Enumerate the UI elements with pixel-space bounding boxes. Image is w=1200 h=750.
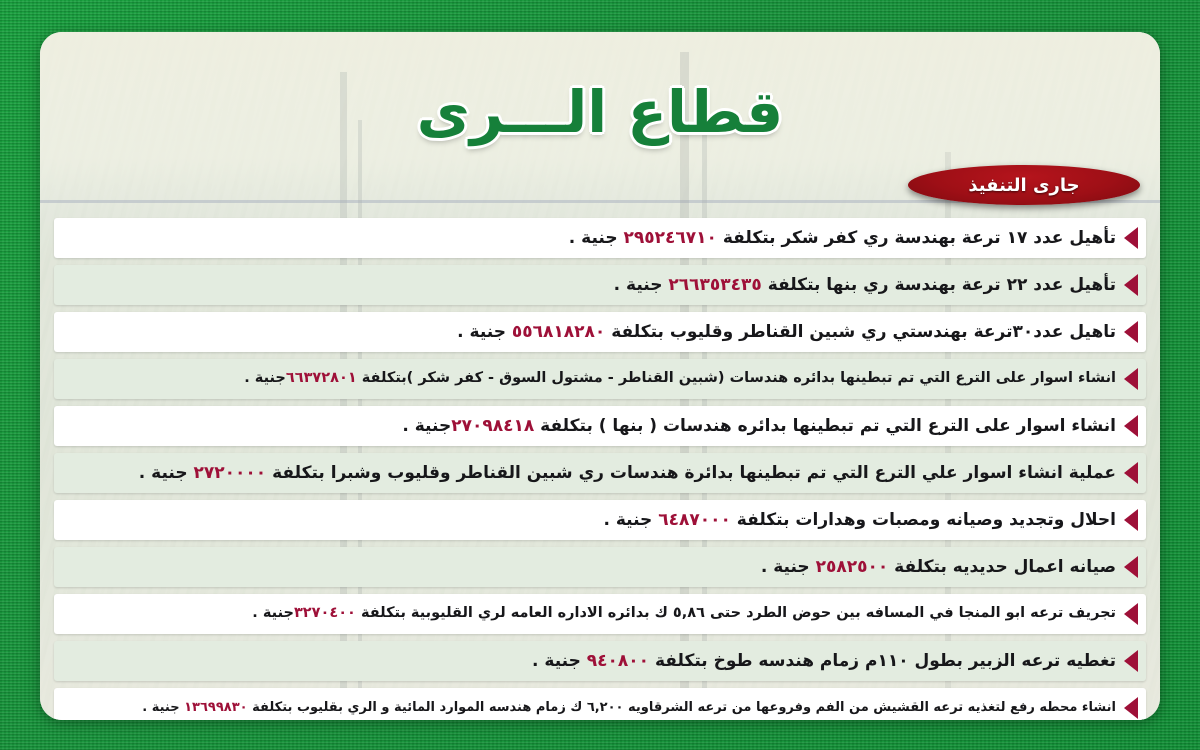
page-title-container: قطاع الـــرى [40, 78, 1160, 146]
list-item-text: احلال وتجديد وصيانه ومصبات وهدارات بتكلف… [68, 509, 1116, 532]
cost-value: ٥٥٦٨١٨٢٨٠ [512, 322, 605, 342]
list-item-text: تجريف ترعه ابو المنجا في المسافه بين حوض… [68, 604, 1116, 624]
status-badge-label: جارى التنفيذ [968, 175, 1079, 196]
list-item[interactable]: تأهيل عدد ٢٢ ترعة بهندسة ري بنها بتكلفة … [54, 265, 1146, 305]
arrow-bullet-icon [1124, 697, 1138, 719]
list-item-text: انشاء محطه رفع لتغذيه ترعه القشيش من الف… [68, 699, 1116, 717]
list-item-text: انشاء اسوار على الترع التي تم تبطينها بد… [68, 369, 1116, 389]
list-item[interactable]: تغطيه ترعه الزبير بطول ١١٠م زمام هندسه ط… [54, 641, 1146, 681]
arrow-bullet-icon [1124, 509, 1138, 531]
arrow-bullet-icon [1124, 650, 1138, 672]
list-item[interactable]: انشاء محطه رفع لتغذيه ترعه القشيش من الف… [54, 688, 1146, 720]
list-item[interactable]: انشاء اسوار على الترع التي تم تبطينها بد… [54, 359, 1146, 399]
list-item[interactable]: صيانه اعمال حديديه بتكلفة ٢٥٨٢٥٠٠ جنية . [54, 547, 1146, 587]
list-item-text: تاهيل عدد٣٠ترعة بهندستي ري شبين القناطر … [68, 321, 1116, 344]
list-item[interactable]: تاهيل عدد٣٠ترعة بهندستي ري شبين القناطر … [54, 312, 1146, 352]
arrow-bullet-icon [1124, 321, 1138, 343]
list-item[interactable]: تجريف ترعه ابو المنجا في المسافه بين حوض… [54, 594, 1146, 634]
status-badge: جارى التنفيذ [908, 165, 1140, 205]
cost-value: ٢٥٨٢٥٠٠ [816, 557, 889, 577]
cost-value: ٦٦٣٧٢٨٠١ [286, 370, 357, 386]
cost-value: ٣٢٧٠٤٠٠ [294, 605, 356, 621]
list-item[interactable]: انشاء اسوار على الترع التي تم تبطينها بد… [54, 406, 1146, 446]
list-item-text: صيانه اعمال حديديه بتكلفة ٢٥٨٢٥٠٠ جنية . [68, 556, 1116, 579]
list-item-text: عملية انشاء اسوار علي الترع التي تم تبطي… [68, 462, 1116, 485]
arrow-bullet-icon [1124, 415, 1138, 437]
cost-value: ٩٤٠٨٠٠ [587, 651, 649, 671]
list-item[interactable]: تأهيل عدد ١٧ ترعة بهندسة ري كفر شكر بتكل… [54, 218, 1146, 258]
list-item-text: تأهيل عدد ٢٢ ترعة بهندسة ري بنها بتكلفة … [68, 274, 1116, 297]
cost-value: ٢٦٦٣٥٣٤٣٥ [668, 275, 761, 295]
arrow-bullet-icon [1124, 368, 1138, 390]
cost-value: ٢٩٥٢٤٦٧١٠ [624, 228, 717, 248]
arrow-bullet-icon [1124, 462, 1138, 484]
arrow-bullet-icon [1124, 274, 1138, 296]
arrow-bullet-icon [1124, 227, 1138, 249]
arrow-bullet-icon [1124, 556, 1138, 578]
list-item[interactable]: احلال وتجديد وصيانه ومصبات وهدارات بتكلف… [54, 500, 1146, 540]
cost-value: ٢٧٢٠٠٠٠ [194, 463, 267, 483]
cost-value: ٢٧٠٩٨٤١٨ [451, 416, 534, 436]
cost-value: ١٣٦٩٩٨٣٠ [184, 700, 247, 715]
page-title: قطاع الـــرى [417, 78, 783, 146]
list-item-text: انشاء اسوار على الترع التي تم تبطينها بد… [68, 415, 1116, 438]
arrow-bullet-icon [1124, 603, 1138, 625]
list-item-text: تغطيه ترعه الزبير بطول ١١٠م زمام هندسه ط… [68, 650, 1116, 673]
list-item-text: تأهيل عدد ١٧ ترعة بهندسة ري كفر شكر بتكل… [68, 227, 1116, 250]
slide-panel: قطاع الـــرى جارى التنفيذ تأهيل عدد ١٧ ت… [40, 32, 1160, 720]
project-list: تأهيل عدد ١٧ ترعة بهندسة ري كفر شكر بتكل… [54, 218, 1146, 720]
list-item[interactable]: عملية انشاء اسوار علي الترع التي تم تبطي… [54, 453, 1146, 493]
cost-value: ٦٤٨٧٠٠٠ [658, 510, 731, 530]
